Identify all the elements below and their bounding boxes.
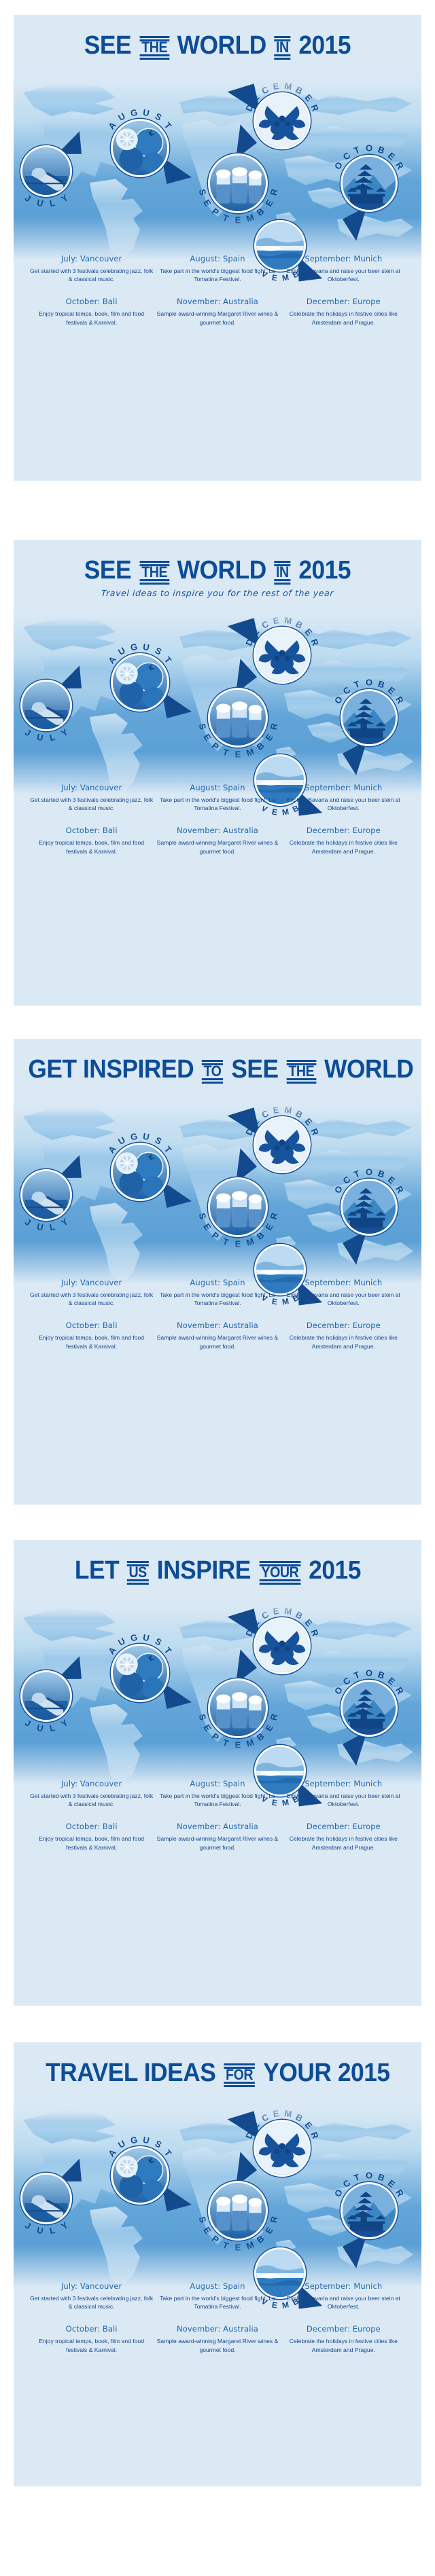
- map-fade-top: [14, 2095, 421, 2127]
- caption-heading: September: Munich: [281, 254, 406, 263]
- caption-cell: October: Bali Enjoy tropical temps, book…: [29, 1321, 154, 1350]
- month-badge-july[interactable]: [20, 1670, 72, 1722]
- caption-cell: November: Australia Sample award-winning…: [154, 826, 280, 855]
- panel-4: LET US INSPIRE YOUR 2015: [14, 1540, 421, 2006]
- caption-body: Take part in the world's biggest food fi…: [154, 267, 280, 283]
- badge-disc: [20, 1169, 72, 1221]
- caption-grid: July: Vancouver Get started with 3 festi…: [14, 1278, 421, 1350]
- page-subtitle: Travel ideas to inspire you for the rest…: [14, 588, 421, 598]
- map-fade-top: [14, 1593, 421, 1624]
- title-word: TRAVEL IDEAS: [46, 2060, 215, 2086]
- caption-cell: November: Australia Sample award-winning…: [154, 1321, 280, 1350]
- caption-cell: October: Bali Enjoy tropical temps, book…: [29, 1822, 154, 1851]
- title-word: WORLD: [177, 557, 266, 583]
- caption-body: Get started with 3 festivals celebrating…: [29, 1291, 154, 1307]
- caption-body: Take part in the world's biggest food fi…: [154, 796, 280, 812]
- map-pin-pointer: [162, 1181, 200, 1219]
- map-pin-pointer: [162, 1682, 200, 1720]
- caption-body: Take part in the world's biggest food fi…: [154, 1291, 280, 1307]
- caption-heading: September: Munich: [281, 2281, 406, 2291]
- title-word: YOUR 2015: [263, 2060, 389, 2086]
- caption-cell: August: Spain Take part in the world's b…: [154, 1779, 280, 1808]
- world-map-zone: JULY: [14, 1092, 421, 1295]
- holly-icon: [256, 1619, 309, 1672]
- title-small-word: IN: [275, 40, 290, 55]
- title-word: INSPIRE: [156, 1558, 250, 1583]
- caption-heading: November: Australia: [154, 2324, 280, 2334]
- page-title: SEE THE WORLD IN 2015: [84, 557, 351, 583]
- month-badge-july[interactable]: [20, 680, 72, 731]
- guitar-icon: [22, 147, 70, 195]
- caption-heading: November: Australia: [154, 297, 280, 306]
- caption-heading: July: Vancouver: [29, 1278, 154, 1287]
- title-word: LET: [74, 1558, 118, 1583]
- caption-cell: December: Europe Celebrate the holidays …: [281, 297, 406, 326]
- caption-cell: August: Spain Take part in the world's b…: [154, 2281, 280, 2311]
- badge-disc: [111, 2146, 169, 2205]
- map-pin-pointer: [367, 2234, 405, 2272]
- month-badge-october[interactable]: [341, 155, 398, 212]
- caption-heading: August: Spain: [154, 783, 280, 792]
- caption-heading: August: Spain: [154, 1779, 280, 1788]
- badge-disc: [208, 1678, 268, 1738]
- caption-heading: October: Bali: [29, 1822, 154, 1831]
- caption-heading: August: Spain: [154, 254, 280, 263]
- caption-heading: September: Munich: [281, 1278, 406, 1287]
- holly-icon: [256, 629, 309, 682]
- badge-disc: [341, 155, 398, 212]
- title-word: SEE: [84, 557, 131, 583]
- badge-disc: [254, 1617, 311, 1674]
- badge-disc: [208, 153, 268, 213]
- month-badge-july[interactable]: [20, 2173, 72, 2224]
- month-badge-december[interactable]: [254, 2120, 311, 2177]
- caption-body: Explore Bavaria and raise your beer stei…: [281, 1291, 406, 1307]
- caption-body: Get started with 3 festivals celebrating…: [29, 796, 154, 812]
- title-small-word: THE: [141, 40, 168, 55]
- caption-heading: August: Spain: [154, 1278, 280, 1287]
- caption-body: Explore Bavaria and raise your beer stei…: [281, 267, 406, 283]
- caption-cell: September: Munich Explore Bavaria and ra…: [281, 2281, 406, 2311]
- panel-5: TRAVEL IDEAS FOR YOUR 2015: [14, 2042, 421, 2486]
- caption-body: Celebrate the holidays in festive cities…: [281, 1333, 406, 1350]
- caption-cell: November: Australia Sample award-winning…: [154, 1822, 280, 1851]
- title-word: SEE: [84, 33, 131, 58]
- panel-header: LET US INSPIRE YOUR 2015: [14, 1540, 421, 1583]
- caption-body: Explore Bavaria and raise your beer stei…: [281, 2294, 406, 2311]
- map-fade-top: [14, 68, 421, 99]
- map-fade-top: [14, 1092, 421, 1123]
- holly-icon: [256, 94, 309, 147]
- badge-disc: [341, 689, 398, 746]
- badge-disc: [254, 627, 311, 684]
- map-pin-pointer: [367, 741, 405, 779]
- beer-stein-icon: [210, 1680, 266, 1736]
- panel-2: SEE THE WORLD IN 2015 Travel ideas to in…: [14, 540, 421, 1006]
- caption-cell: July: Vancouver Get started with 3 festi…: [29, 2281, 154, 2311]
- holly-icon: [256, 2122, 309, 2175]
- caption-body: Explore Bavaria and raise your beer stei…: [281, 796, 406, 812]
- title-small-word: THE: [141, 565, 168, 580]
- caption-body: Sample award-winning Margaret River wine…: [154, 310, 280, 326]
- world-map-zone: JULY: [14, 1593, 421, 1797]
- beer-stein-icon: [210, 155, 266, 211]
- caption-grid: July: Vancouver Get started with 3 festi…: [14, 783, 421, 855]
- caption-body: Celebrate the holidays in festive cities…: [281, 2337, 406, 2353]
- bali-temple-icon: [343, 1682, 396, 1735]
- month-badge-august[interactable]: [111, 119, 169, 177]
- caption-body: Enjoy tropical temps, book, film and foo…: [29, 1333, 154, 1350]
- month-badge-september[interactable]: [208, 2181, 268, 2241]
- month-badge-october[interactable]: [341, 2182, 398, 2239]
- badge-disc: [208, 1177, 268, 1237]
- month-badge-october[interactable]: [341, 1680, 398, 1737]
- caption-body: Get started with 3 festivals celebrating…: [29, 2294, 154, 2311]
- page-title: GET INSPIRED TO SEE THE WORLD: [28, 1056, 413, 1082]
- caption-body: Sample award-winning Margaret River wine…: [154, 839, 280, 855]
- bali-temple-icon: [343, 2184, 396, 2237]
- badge-disc: [254, 2120, 311, 2177]
- title-small-word: YOUR: [260, 1565, 299, 1580]
- caption-cell: August: Spain Take part in the world's b…: [154, 1278, 280, 1307]
- month-badge-september[interactable]: [208, 153, 268, 213]
- caption-heading: July: Vancouver: [29, 783, 154, 792]
- guitar-icon: [22, 1171, 70, 1219]
- caption-heading: July: Vancouver: [29, 254, 154, 263]
- month-badge-august[interactable]: [111, 2146, 169, 2205]
- caption-grid: July: Vancouver Get started with 3 festi…: [14, 1779, 421, 1852]
- caption-cell: July: Vancouver Get started with 3 festi…: [29, 254, 154, 283]
- page-title: TRAVEL IDEAS FOR YOUR 2015: [46, 2060, 390, 2086]
- caption-cell: August: Spain Take part in the world's b…: [154, 254, 280, 283]
- month-badge-october[interactable]: [341, 689, 398, 746]
- caption-cell: December: Europe Celebrate the holidays …: [281, 826, 406, 855]
- badge-disc: [111, 1143, 169, 1201]
- caption-cell: September: Munich Explore Bavaria and ra…: [281, 1779, 406, 1808]
- badge-disc: [341, 1179, 398, 1236]
- caption-heading: October: Bali: [29, 297, 154, 306]
- caption-body: Sample award-winning Margaret River wine…: [154, 1835, 280, 1851]
- caption-cell: July: Vancouver Get started with 3 festi…: [29, 783, 154, 812]
- world-map-zone: JULY: [14, 602, 421, 806]
- caption-cell: December: Europe Celebrate the holidays …: [281, 1822, 406, 1851]
- badge-disc: [111, 1644, 169, 1702]
- map-pin-pointer: [162, 691, 200, 729]
- caption-cell: September: Munich Explore Bavaria and ra…: [281, 783, 406, 812]
- tomatoes-icon: [113, 1145, 167, 1199]
- caption-heading: December: Europe: [281, 2324, 406, 2334]
- caption-heading: November: Australia: [154, 1321, 280, 1330]
- map-fade-top: [14, 602, 421, 633]
- badge-disc: [20, 1670, 72, 1722]
- caption-heading: July: Vancouver: [29, 2281, 154, 2291]
- month-badge-september[interactable]: [208, 1678, 268, 1738]
- holly-icon: [256, 1118, 309, 1171]
- title-small-word: THE: [288, 1064, 315, 1079]
- title-word: 2015: [309, 1558, 361, 1583]
- caption-grid: July: Vancouver Get started with 3 festi…: [14, 254, 421, 327]
- caption-cell: October: Bali Enjoy tropical temps, book…: [29, 826, 154, 855]
- month-badge-august[interactable]: [111, 1644, 169, 1702]
- month-badge-october[interactable]: [341, 1179, 398, 1236]
- caption-heading: September: Munich: [281, 783, 406, 792]
- month-badge-december[interactable]: [254, 92, 311, 149]
- panel-header: GET INSPIRED TO SEE THE WORLD: [14, 1039, 421, 1082]
- map-pin-pointer: [367, 206, 405, 244]
- guitar-icon: [22, 1672, 70, 1720]
- caption-heading: July: Vancouver: [29, 1779, 154, 1788]
- badge-disc: [254, 92, 311, 149]
- caption-grid: July: Vancouver Get started with 3 festi…: [14, 2281, 421, 2354]
- caption-body: Celebrate the holidays in festive cities…: [281, 1835, 406, 1851]
- map-pin-pointer: [162, 157, 200, 195]
- month-badge-december[interactable]: [254, 1617, 311, 1674]
- caption-heading: December: Europe: [281, 1321, 406, 1330]
- badge-disc: [20, 680, 72, 731]
- caption-heading: October: Bali: [29, 2324, 154, 2334]
- panel-header: SEE THE WORLD IN 2015: [14, 15, 421, 58]
- world-map-zone: JULY: [14, 2095, 421, 2299]
- title-small-word: FOR: [225, 2067, 254, 2082]
- panel-header: TRAVEL IDEAS FOR YOUR 2015: [14, 2042, 421, 2086]
- caption-cell: October: Bali Enjoy tropical temps, book…: [29, 297, 154, 326]
- title-small-word: IN: [275, 565, 290, 580]
- title-small-word: TO: [203, 1064, 222, 1079]
- page-title: SEE THE WORLD IN 2015: [84, 33, 351, 58]
- badge-disc: [111, 119, 169, 177]
- caption-body: Explore Bavaria and raise your beer stei…: [281, 1792, 406, 1808]
- month-badge-july[interactable]: [20, 1169, 72, 1221]
- map-pin-pointer: [367, 1731, 405, 1769]
- caption-body: Get started with 3 festivals celebrating…: [29, 267, 154, 283]
- month-badge-december[interactable]: [254, 1116, 311, 1173]
- guitar-icon: [22, 2175, 70, 2222]
- caption-body: Get started with 3 festivals celebrating…: [29, 1792, 154, 1808]
- month-badge-september[interactable]: [208, 688, 268, 748]
- caption-heading: September: Munich: [281, 1779, 406, 1788]
- caption-cell: September: Munich Explore Bavaria and ra…: [281, 254, 406, 283]
- caption-cell: November: Australia Sample award-winning…: [154, 297, 280, 326]
- tomatoes-icon: [113, 2148, 167, 2203]
- caption-body: Sample award-winning Margaret River wine…: [154, 2337, 280, 2353]
- map-pin-pointer: [162, 2184, 200, 2222]
- month-badge-december[interactable]: [254, 627, 311, 684]
- caption-heading: December: Europe: [281, 826, 406, 835]
- badge-disc: [208, 2181, 268, 2241]
- caption-body: Enjoy tropical temps, book, film and foo…: [29, 1835, 154, 1851]
- title-word: WORLD: [324, 1056, 413, 1082]
- caption-body: Sample award-winning Margaret River wine…: [154, 1333, 280, 1350]
- panel-3: GET INSPIRED TO SEE THE WORLD: [14, 1039, 421, 1505]
- caption-cell: August: Spain Take part in the world's b…: [154, 783, 280, 812]
- map-pin-pointer: [367, 1230, 405, 1268]
- caption-heading: August: Spain: [154, 2281, 280, 2291]
- guitar-icon: [22, 682, 70, 729]
- title-small-word: US: [128, 1565, 147, 1580]
- tomatoes-icon: [113, 655, 167, 710]
- title-word: 2015: [298, 557, 351, 583]
- title-word: SEE: [231, 1056, 278, 1082]
- title-word: 2015: [298, 33, 351, 58]
- caption-cell: October: Bali Enjoy tropical temps, book…: [29, 2324, 154, 2353]
- caption-heading: October: Bali: [29, 1321, 154, 1330]
- bali-temple-icon: [343, 157, 396, 210]
- caption-body: Enjoy tropical temps, book, film and foo…: [29, 310, 154, 326]
- panel-header: SEE THE WORLD IN 2015: [14, 540, 421, 583]
- caption-cell: September: Munich Explore Bavaria and ra…: [281, 1278, 406, 1307]
- month-badge-august[interactable]: [111, 653, 169, 712]
- beer-stein-icon: [210, 2183, 266, 2239]
- caption-body: Celebrate the holidays in festive cities…: [281, 310, 406, 326]
- badge-disc: [341, 1680, 398, 1737]
- badge-disc: [20, 145, 72, 197]
- badge-disc: [254, 1116, 311, 1173]
- caption-heading: November: Australia: [154, 826, 280, 835]
- beer-stein-icon: [210, 1179, 266, 1235]
- caption-heading: November: Australia: [154, 1822, 280, 1831]
- caption-heading: December: Europe: [281, 297, 406, 306]
- bali-temple-icon: [343, 1181, 396, 1234]
- world-map-zone: JULY: [14, 68, 421, 272]
- caption-heading: December: Europe: [281, 1822, 406, 1831]
- badge-disc: [111, 653, 169, 712]
- tomatoes-icon: [113, 121, 167, 175]
- month-badge-august[interactable]: [111, 1143, 169, 1201]
- beer-stein-icon: [210, 690, 266, 746]
- caption-cell: December: Europe Celebrate the holidays …: [281, 1321, 406, 1350]
- panel-1: SEE THE WORLD IN 2015: [14, 15, 421, 481]
- caption-heading: October: Bali: [29, 826, 154, 835]
- title-word: GET INSPIRED: [28, 1056, 194, 1082]
- caption-cell: July: Vancouver Get started with 3 festi…: [29, 1278, 154, 1307]
- caption-body: Take part in the world's biggest food fi…: [154, 2294, 280, 2311]
- month-badge-july[interactable]: [20, 145, 72, 197]
- badge-disc: [341, 2182, 398, 2239]
- bali-temple-icon: [343, 691, 396, 744]
- caption-cell: July: Vancouver Get started with 3 festi…: [29, 1779, 154, 1808]
- caption-cell: December: Europe Celebrate the holidays …: [281, 2324, 406, 2353]
- caption-body: Celebrate the holidays in festive cities…: [281, 839, 406, 855]
- caption-body: Take part in the world's biggest food fi…: [154, 1792, 280, 1808]
- title-word: WORLD: [177, 33, 266, 58]
- badge-disc: [208, 688, 268, 748]
- badge-disc: [20, 2173, 72, 2224]
- month-badge-september[interactable]: [208, 1177, 268, 1237]
- tomatoes-icon: [113, 1646, 167, 1700]
- page-title: LET US INSPIRE YOUR 2015: [74, 1558, 360, 1583]
- caption-body: Enjoy tropical temps, book, film and foo…: [29, 2337, 154, 2353]
- caption-body: Enjoy tropical temps, book, film and foo…: [29, 839, 154, 855]
- caption-cell: November: Australia Sample award-winning…: [154, 2324, 280, 2353]
